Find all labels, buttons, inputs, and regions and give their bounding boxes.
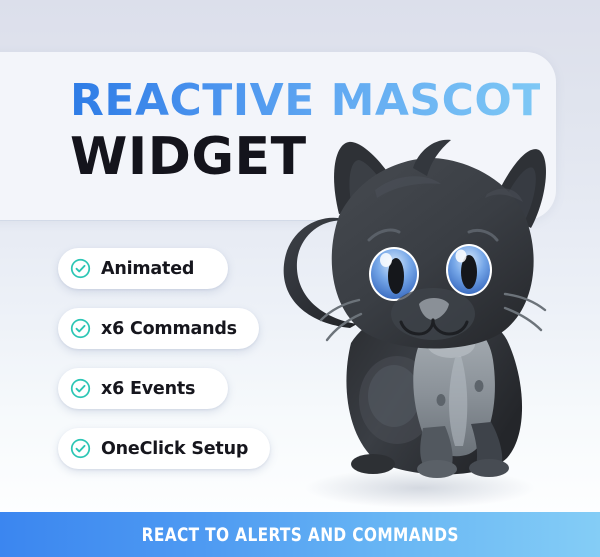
cat-eye-left-glint bbox=[380, 253, 392, 267]
cat-haunch-highlight-inner bbox=[368, 365, 420, 427]
cat-belly-dot-left bbox=[437, 394, 446, 406]
feature-label: OneClick Setup bbox=[101, 439, 248, 459]
feature-label: x6 Events bbox=[101, 379, 195, 399]
cat-hind-paw bbox=[351, 454, 395, 474]
bottom-banner: REACT TO ALERTS AND COMMANDS bbox=[0, 512, 600, 557]
cat-eye-right-glint bbox=[456, 250, 467, 263]
feature-pill-animated[interactable]: Animated bbox=[58, 248, 228, 289]
cat-paw-right bbox=[469, 459, 509, 477]
feature-pill-oneclick-setup[interactable]: OneClick Setup bbox=[58, 428, 270, 469]
feature-pill-commands[interactable]: x6 Commands bbox=[58, 308, 259, 349]
black-cat-illustration bbox=[255, 128, 575, 510]
feature-label: x6 Commands bbox=[101, 319, 237, 339]
feature-label: Animated bbox=[101, 259, 194, 279]
check-circle-icon bbox=[70, 438, 91, 459]
check-circle-icon bbox=[70, 378, 91, 399]
feature-pill-events[interactable]: x6 Events bbox=[58, 368, 228, 409]
check-circle-icon bbox=[70, 258, 91, 279]
cat-belly-dot-right bbox=[475, 380, 484, 392]
feature-list: Animated x6 Commands x6 Events OneClick … bbox=[58, 248, 270, 488]
check-circle-icon bbox=[70, 318, 91, 339]
cat-paw-left bbox=[417, 460, 457, 478]
banner-text: REACT TO ALERTS AND COMMANDS bbox=[141, 524, 458, 546]
